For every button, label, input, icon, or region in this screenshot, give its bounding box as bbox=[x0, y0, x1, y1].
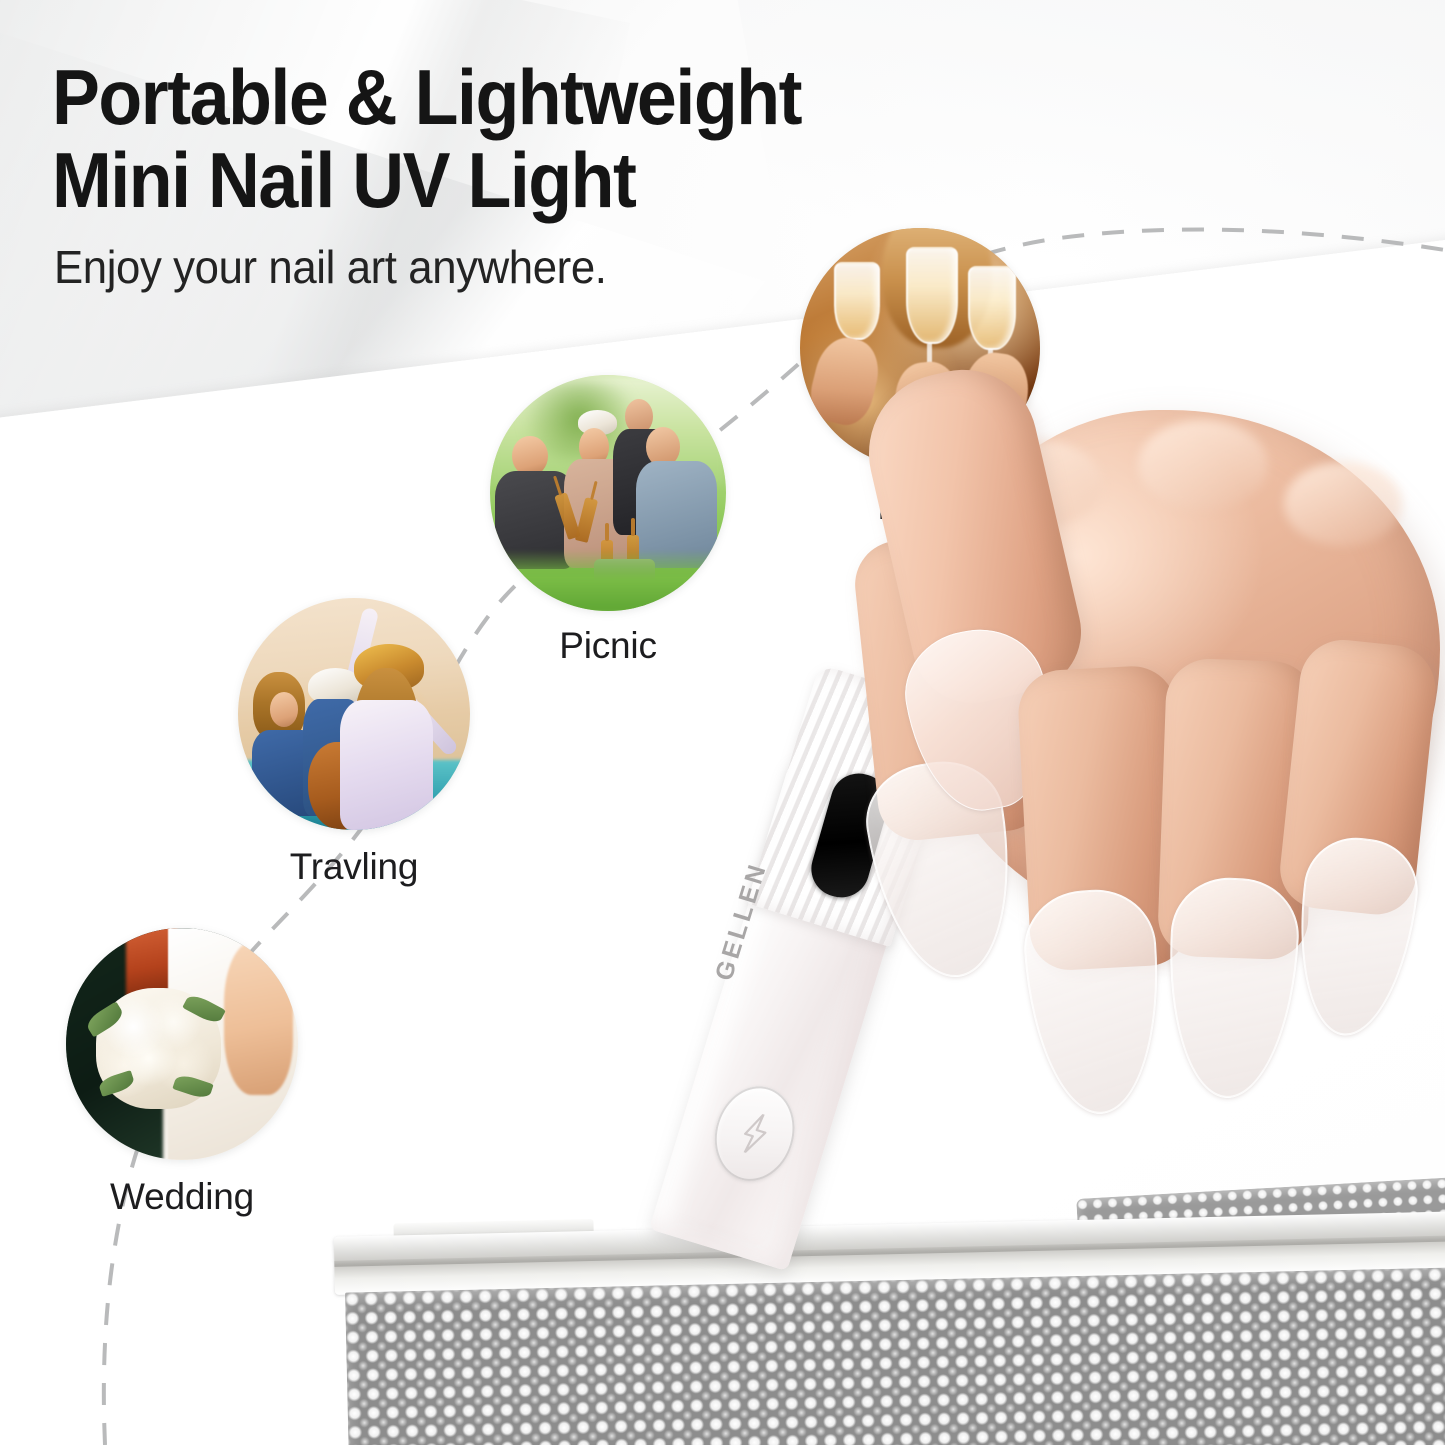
scene-travling-photo bbox=[238, 598, 470, 830]
travling-person bbox=[340, 700, 433, 830]
scene-travling-label: Travling bbox=[290, 846, 419, 888]
scene-wedding-label: Wedding bbox=[110, 1176, 254, 1218]
scene-party-photo bbox=[800, 228, 1040, 468]
picnic-person bbox=[636, 427, 716, 569]
scene-picnic-label: Picnic bbox=[559, 625, 657, 667]
picnic-image bbox=[490, 375, 726, 611]
scene-picnic: Picnic bbox=[490, 375, 726, 611]
page-headline: Portable & Lightweight Mini Nail UV Ligh… bbox=[52, 56, 972, 221]
page-subheadline: Enjoy your nail art anywhere. bbox=[54, 240, 607, 294]
scene-wedding: Wedding bbox=[66, 928, 298, 1160]
bride-arm bbox=[224, 942, 294, 1095]
scene-picnic-photo bbox=[490, 375, 726, 611]
scene-wedding-photo bbox=[66, 928, 298, 1160]
party-image bbox=[800, 228, 1040, 468]
product-marketing-image: Portable & Lightweight Mini Nail UV Ligh… bbox=[0, 0, 1445, 1445]
headline-line-2: Mini Nail UV Light bbox=[52, 139, 972, 222]
scene-party-label: Party bbox=[877, 486, 962, 528]
picnic-grass bbox=[490, 550, 726, 611]
scene-travling: Travling bbox=[238, 598, 470, 830]
scene-party: Party bbox=[800, 228, 1040, 468]
headline-line-1: Portable & Lightweight bbox=[52, 53, 801, 141]
bridal-bouquet bbox=[96, 988, 221, 1109]
travling-image bbox=[238, 598, 470, 830]
wedding-image bbox=[66, 928, 298, 1160]
